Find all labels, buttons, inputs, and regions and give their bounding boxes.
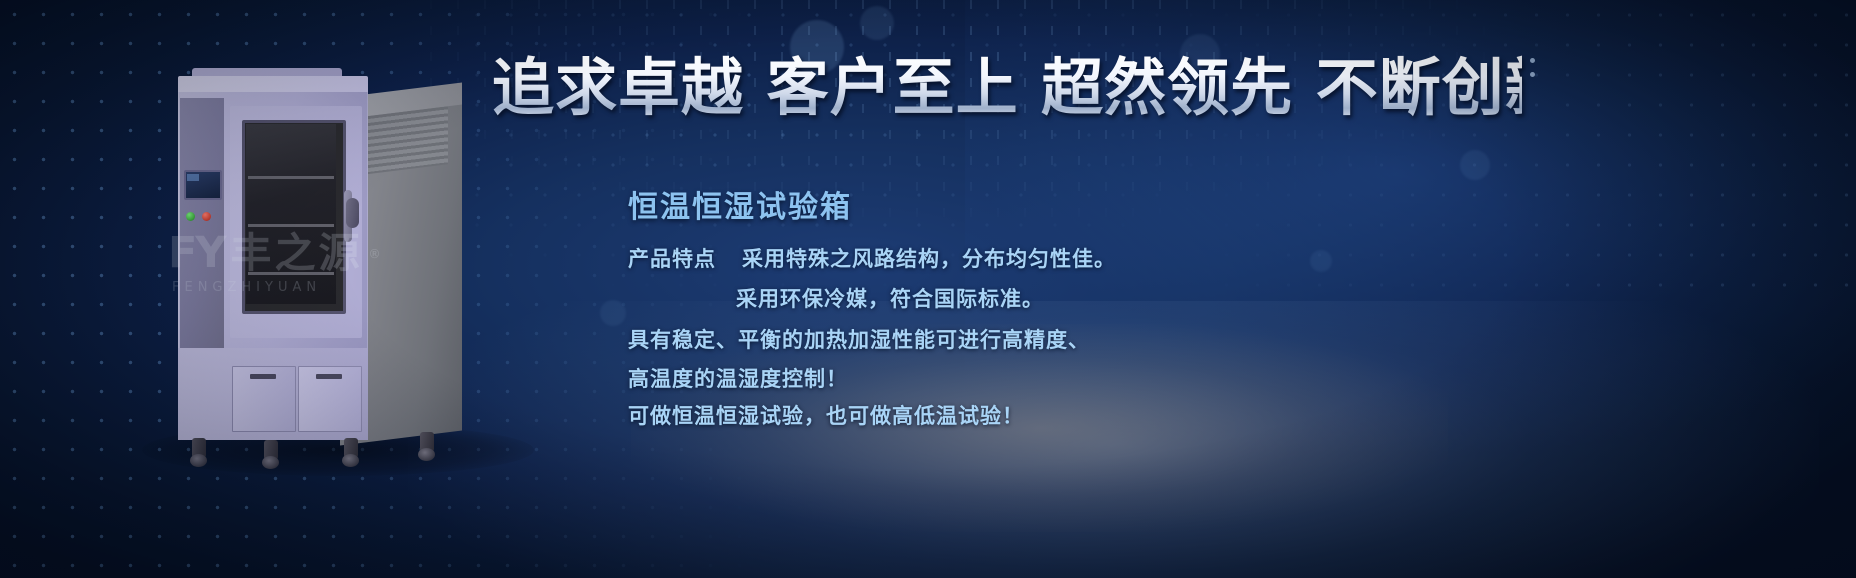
background-vignette [0, 0, 1856, 578]
promo-banner: FY 丰之源 ® FENGZHIYUAN 追求卓越 客户至上 超然领先 不断创新… [0, 0, 1856, 578]
